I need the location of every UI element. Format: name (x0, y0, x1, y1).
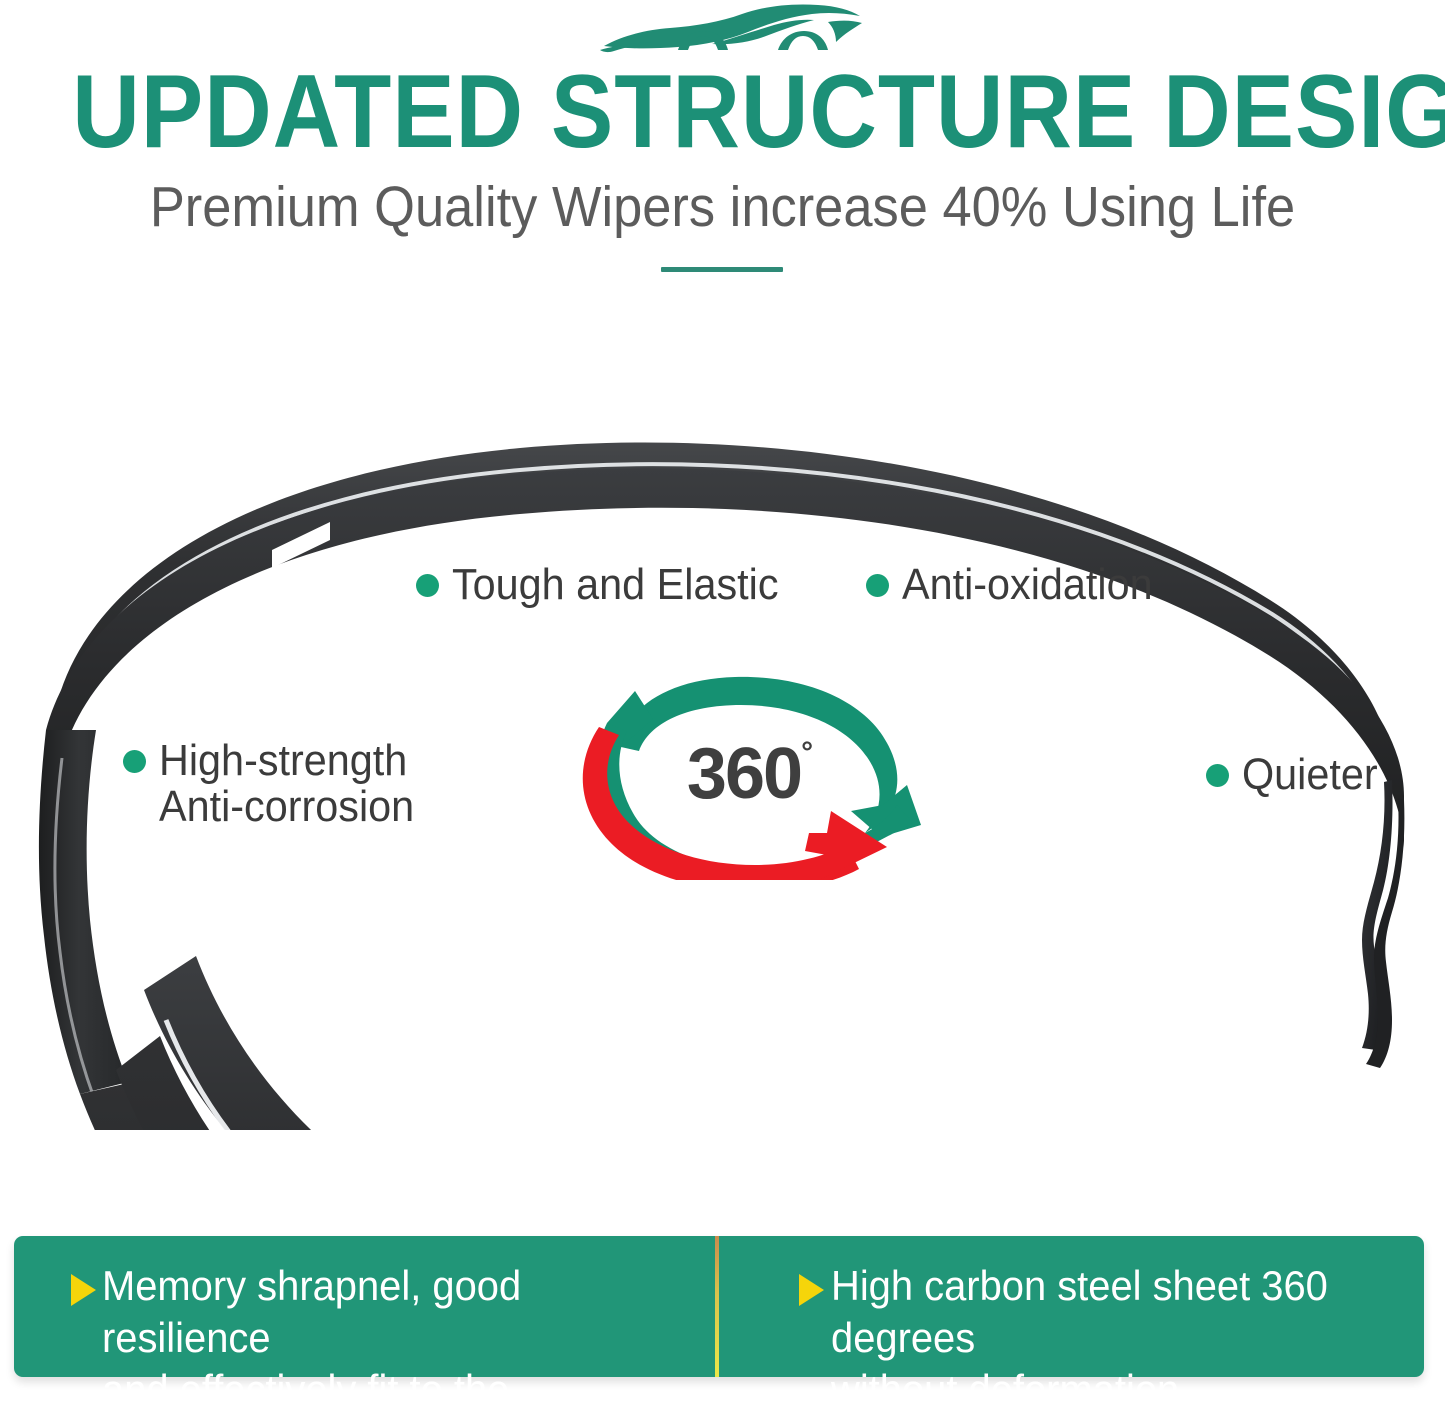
feature-high-strength-anti-corrosion: High-strength Anti-corrosion (123, 738, 430, 830)
feature-tough-and-elastic: Tough and Elastic (416, 562, 799, 608)
feature-quieter: Quieter (1206, 752, 1386, 798)
banner-text: Memory shrapnel, good resilience and eff… (102, 1260, 684, 1421)
bullet-dot-icon (123, 750, 146, 773)
banner-panel-high-carbon-steel: High carbon steel sheet 360 degrees with… (719, 1236, 1424, 1377)
badge-360-value: 360° (565, 717, 935, 810)
bullet-dot-icon (1206, 764, 1229, 787)
triangle-arrow-icon (71, 1274, 96, 1306)
bottom-feature-banner: Memory shrapnel, good resilience and eff… (14, 1236, 1424, 1377)
feature-label: Quieter (1242, 752, 1378, 798)
car-silhouette-icon (592, 2, 864, 58)
banner-panel-memory-shrapnel: Memory shrapnel, good resilience and eff… (14, 1236, 715, 1377)
badge-number: 360 (687, 734, 801, 814)
bullet-dot-icon (866, 574, 889, 597)
page-subtitle: Premium Quality Wipers increase 40% Usin… (58, 176, 1387, 238)
badge-360-degrees: 360° (565, 655, 935, 880)
triangle-arrow-icon (799, 1274, 824, 1306)
page-title: UPDATED STRUCTURE DESIGN (72, 60, 1373, 164)
badge-degree-symbol: ° (801, 736, 813, 769)
feature-anti-oxidation: Anti-oxidation (866, 562, 1169, 608)
title-divider (661, 267, 783, 272)
product-infographic-page: UPDATED STRUCTURE DESIGN Premium Quality… (0, 0, 1445, 1421)
feature-label: High-strength Anti-corrosion (159, 738, 414, 830)
bullet-dot-icon (416, 574, 439, 597)
banner-text: High carbon steel sheet 360 degrees with… (831, 1260, 1394, 1416)
feature-label: Anti-oxidation (902, 562, 1153, 608)
feature-label: Tough and Elastic (452, 562, 779, 608)
